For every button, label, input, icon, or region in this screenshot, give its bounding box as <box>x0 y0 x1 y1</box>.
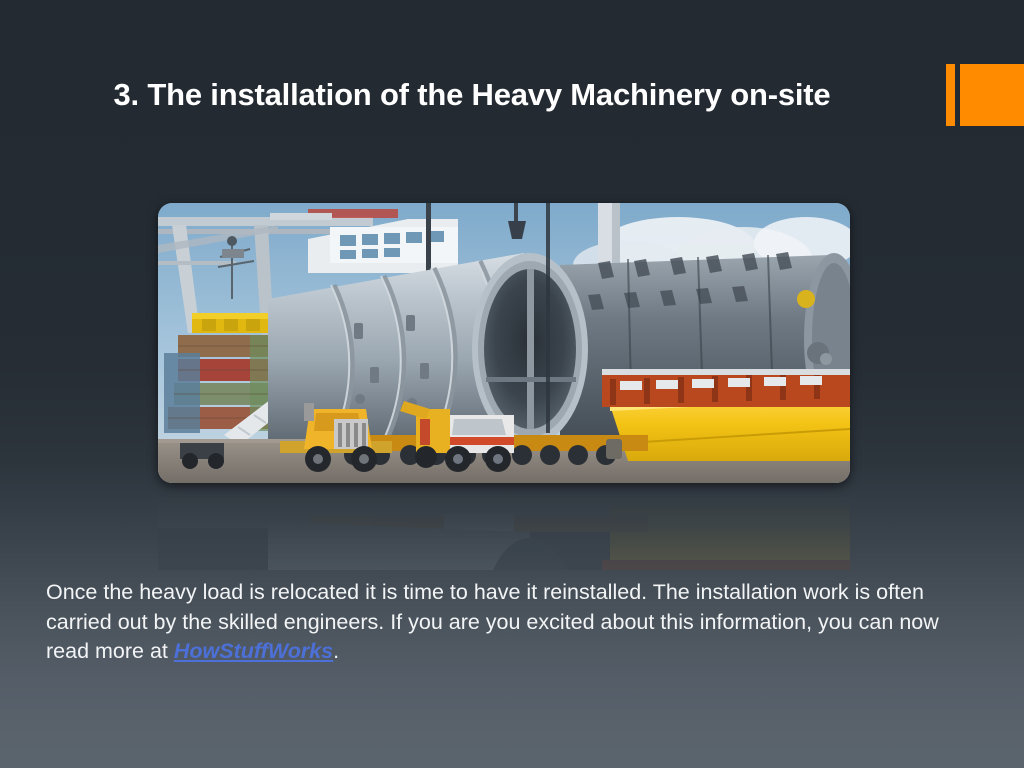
page-title: 3. The installation of the Heavy Machine… <box>24 74 920 115</box>
orange-accent-decoration <box>944 64 1024 126</box>
body-paragraph: Once the heavy load is relocated it is t… <box>46 578 946 667</box>
orange-wide-bar <box>960 64 1024 126</box>
orange-thin-bar <box>946 64 955 126</box>
howstuffworks-link[interactable]: HowStuffWorks <box>174 639 333 663</box>
photo-reflection <box>158 484 850 570</box>
heavy-machinery-photo <box>158 203 850 483</box>
slide-canvas: 3. The installation of the Heavy Machine… <box>0 0 1024 768</box>
photo-frame <box>152 198 856 490</box>
body-text-after-link: . <box>333 639 339 663</box>
